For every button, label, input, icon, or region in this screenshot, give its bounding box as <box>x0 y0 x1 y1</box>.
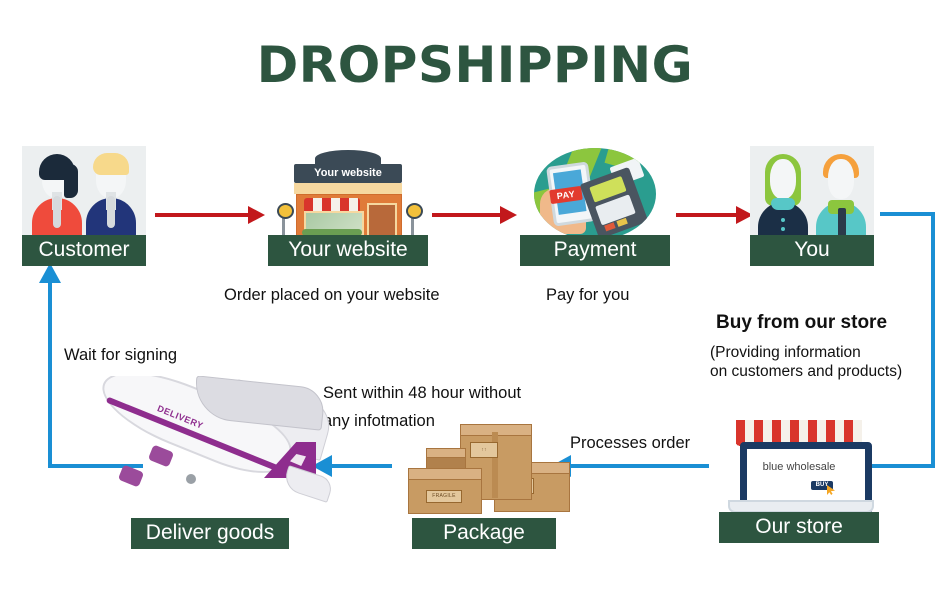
shop-sign-text: Your website <box>314 167 382 179</box>
shop-cornice <box>294 183 402 194</box>
caption-pay-for-you: Pay for you <box>546 284 629 307</box>
store-buy-button-label: BUY <box>816 482 829 488</box>
arrow-customer-to-website-line <box>155 213 250 217</box>
node-label-deliver-goods: Deliver goods <box>131 518 289 549</box>
payment-pay-tag-text: PAY <box>556 189 576 201</box>
shop-lamp-left-head <box>277 203 294 219</box>
arrow-payment-to-you-line <box>676 213 738 217</box>
caption-processes-order: Processes order <box>570 432 690 455</box>
customer-hair-bun-left <box>64 164 78 198</box>
cargo-airplane-icon: DELIVERY <box>78 376 332 510</box>
caption-wait-for-signing: Wait for signing <box>64 344 177 367</box>
plane-engine-2 <box>118 464 144 487</box>
page-title: DROPSHIPPING <box>0 36 950 94</box>
caption-providing-line2: on customers and products) <box>710 360 902 383</box>
customer-collar-left <box>53 196 61 228</box>
shop-lamp-right-head <box>406 203 423 219</box>
store-screen-text: blue wholesale <box>747 461 851 473</box>
you-head-right <box>828 159 854 199</box>
you-head-left <box>770 159 796 199</box>
customer-person-left <box>28 150 86 240</box>
dropshipping-infographic: DROPSHIPPING <box>0 0 950 611</box>
caption-sent-line1: Sent within 48 hour without <box>323 382 521 405</box>
node-label-you: You <box>750 235 874 266</box>
you-button-left <box>781 218 785 222</box>
arrow-package-to-plane-line <box>330 464 392 468</box>
arrow-store-to-package-line <box>569 464 709 468</box>
node-label-package: Package <box>412 518 556 549</box>
node-label-our-store: Our store <box>719 512 879 543</box>
cardboard-boxes-icon: ↑↑ ↑↑ FRAGILE <box>398 418 578 520</box>
store-awning <box>736 420 862 442</box>
arrow-you-to-store-top <box>880 212 935 216</box>
node-label-your-website: Your website <box>268 235 428 266</box>
arrow-website-to-payment-line <box>432 213 502 217</box>
you-collar-left <box>771 198 795 210</box>
arrow-plane-to-customer-left <box>48 282 52 468</box>
package-box-small-top <box>426 448 466 458</box>
shop-awning <box>304 198 360 212</box>
two-customers-icon <box>22 146 146 240</box>
payment-globe-circle: PAY <box>534 148 656 240</box>
storefront-icon: Your website <box>268 150 428 242</box>
customer-collar-right <box>107 196 115 228</box>
caption-buy-from-our-store: Buy from our store <box>716 311 887 334</box>
node-label-customer: Customer <box>22 235 146 266</box>
arrow-website-to-payment-head <box>500 206 517 224</box>
you-person-left <box>754 150 812 240</box>
customer-person-right <box>82 150 140 240</box>
shop-sign: Your website <box>294 164 402 183</box>
two-business-people-icon <box>750 146 874 240</box>
plane-engine-1 <box>148 444 174 467</box>
package-box-front-label: FRAGILE <box>426 490 462 503</box>
plane-landing-gear <box>186 474 196 484</box>
package-box-center-symbol: ↑↑ <box>481 447 487 453</box>
you-person-right <box>812 150 870 240</box>
arrow-customer-to-website-head <box>248 206 265 224</box>
node-label-payment: Payment <box>520 235 670 266</box>
arrow-you-to-store-right <box>931 212 935 468</box>
customer-hair-right <box>93 153 129 175</box>
payment-terminal-icon: PAY <box>520 148 670 242</box>
laptop-store-icon: blue wholesale BUY <box>714 414 884 520</box>
package-box-center-label: ↑↑ <box>470 442 498 458</box>
caption-order-placed: Order placed on your website <box>224 284 440 307</box>
arrow-plane-to-customer-head <box>39 263 61 283</box>
package-box-fragile-text: FRAGILE <box>432 493 456 499</box>
you-button2-left <box>781 227 785 231</box>
package-box-front-top <box>408 468 482 480</box>
plane-stabilizer <box>281 465 332 503</box>
